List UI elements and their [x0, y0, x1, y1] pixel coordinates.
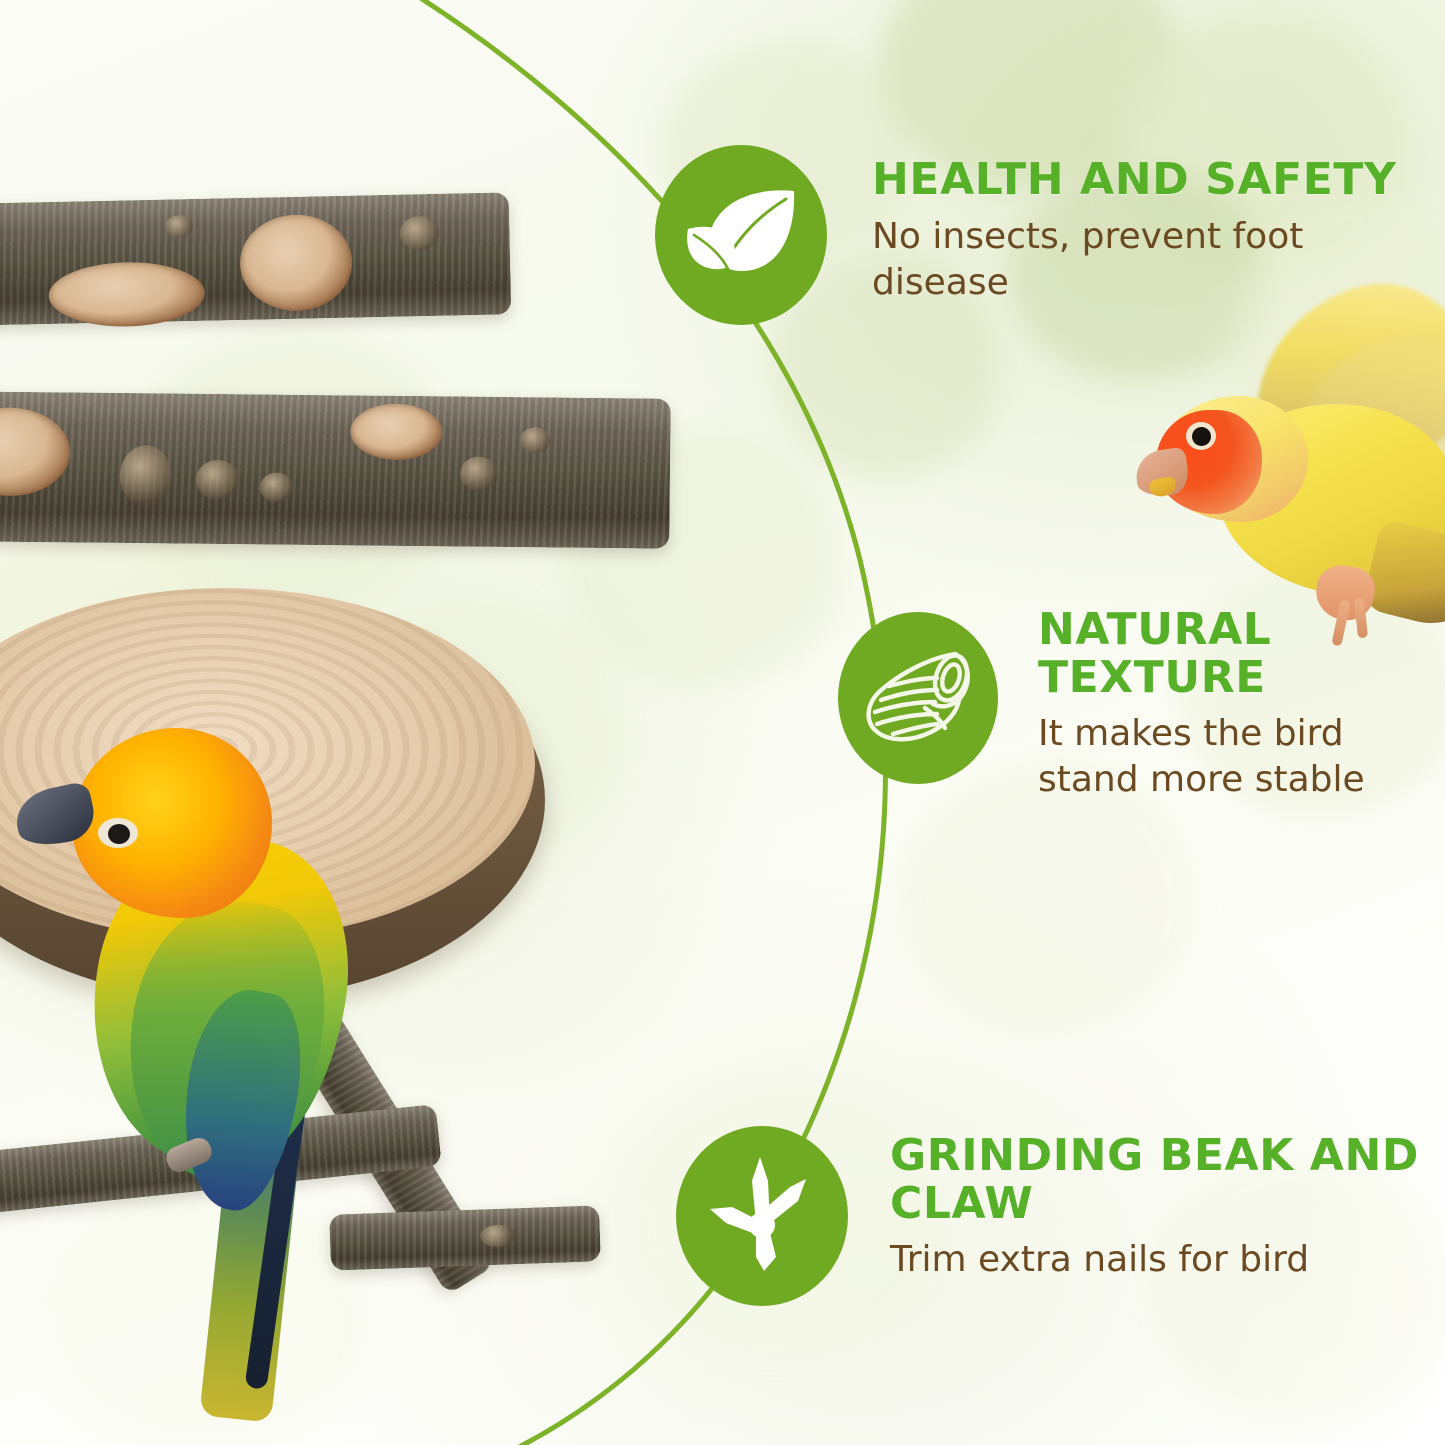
product-feature-infographic: HEALTH AND SAFETY No insects, prevent fo…: [0, 0, 1445, 1445]
decorative-connector-arc: [0, 0, 1445, 1445]
